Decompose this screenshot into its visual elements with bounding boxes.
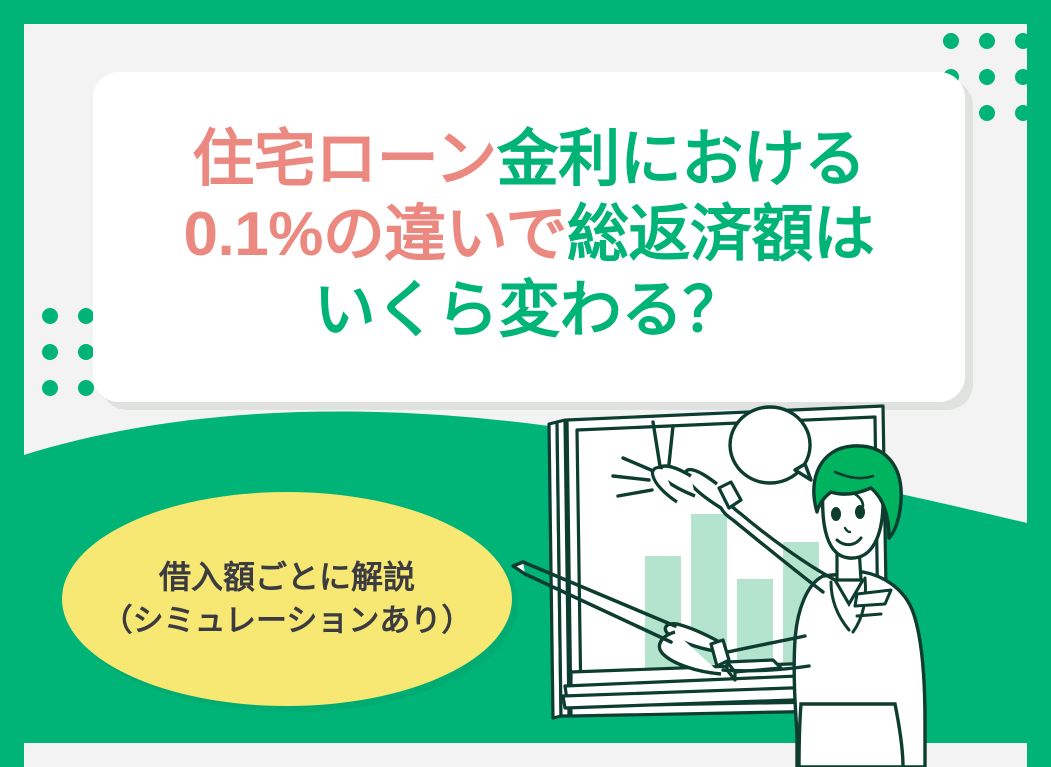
title-segment-green: 総返済額は — [567, 200, 875, 269]
presenter-eye-left — [831, 507, 841, 521]
decor-dot — [1015, 33, 1031, 49]
banner-canvas: 住宅ローン金利における 0.1%の違いで総返済額は いくら変わる？ 借入額ごとに… — [0, 0, 1051, 767]
badge-line-1: 借入額ごとに解説 — [159, 556, 415, 599]
title-segment-green: いくら変わる？ — [314, 276, 745, 345]
speech-bubble-icon — [730, 407, 811, 483]
decor-dot — [979, 105, 995, 121]
badge-line-2: （シミュレーションあり） — [102, 600, 473, 642]
title-segment-green: 金利における — [497, 125, 866, 194]
title-card: 住宅ローン金利における 0.1%の違いで総返済額は いくら変わる？ — [93, 72, 965, 402]
page-title-line-1: 住宅ローン金利における — [192, 122, 865, 198]
title-segment-pink: 住宅ローン — [192, 125, 496, 194]
page-title-line-2: 0.1%の違いで総返済額は — [184, 197, 875, 273]
decor-dot — [78, 308, 94, 324]
decor-dot — [979, 69, 995, 85]
decor-dot — [42, 308, 58, 324]
decor-dot — [1015, 105, 1031, 121]
decor-dot — [78, 380, 94, 396]
decor-dot — [42, 344, 58, 360]
decor-dot — [42, 380, 58, 396]
title-segment-pink: 0.1%の違いで — [184, 200, 567, 269]
page-title-line-3: いくら変わる？ — [314, 273, 745, 349]
dot-grid-left — [42, 308, 94, 396]
decor-dot — [979, 33, 995, 49]
highlight-badge: 借入額ごとに解説 （シミュレーションあり） — [62, 492, 512, 706]
illustration-woman-presenting — [505, 404, 1051, 767]
presenter-skirt — [799, 704, 903, 767]
decor-dot — [78, 344, 94, 360]
decor-dot — [943, 33, 959, 49]
decor-dot — [1015, 69, 1031, 85]
highlight-badge-body: 借入額ごとに解説 （シミュレーションあり） — [62, 492, 512, 706]
